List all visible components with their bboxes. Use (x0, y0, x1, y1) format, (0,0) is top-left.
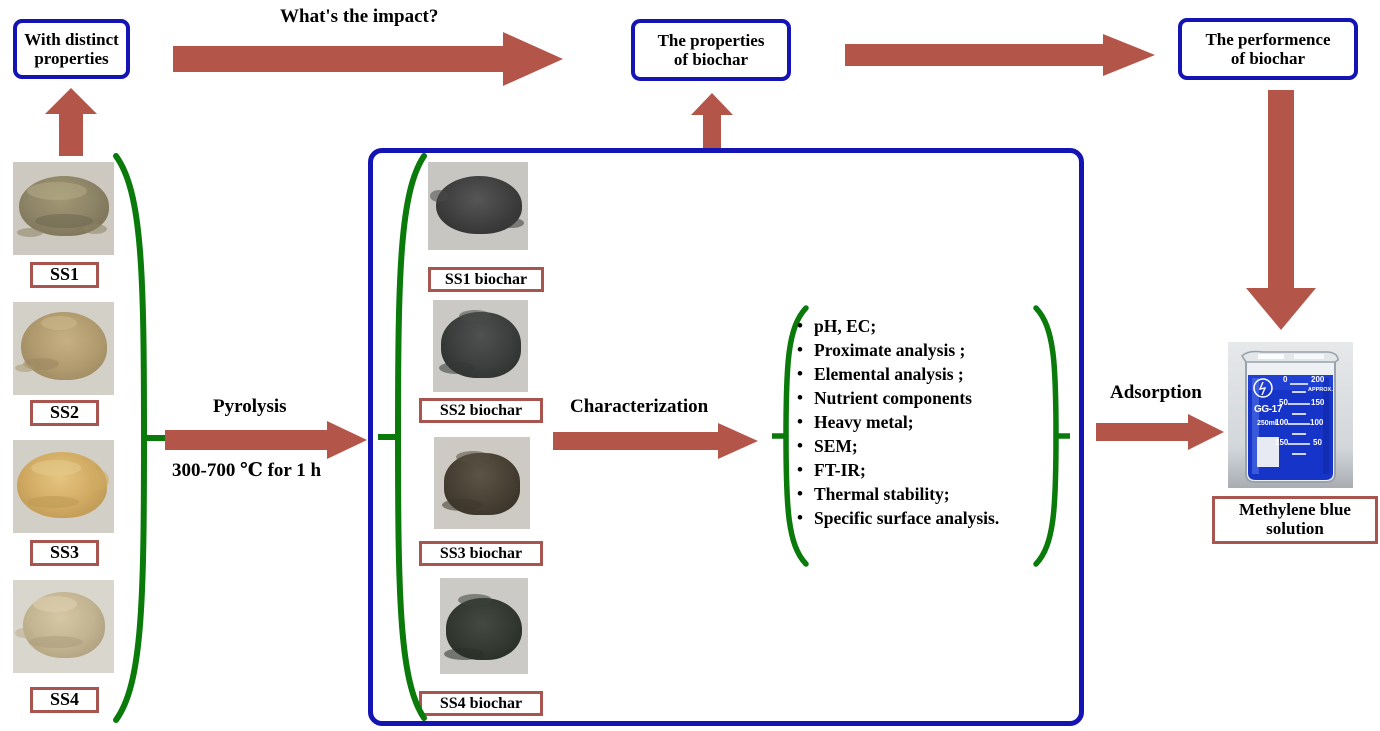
callout-properties-of-biochar: The properties of biochar (631, 19, 791, 81)
label-characterization: Characterization (570, 396, 708, 418)
biochar-label-text: SS1 biochar (445, 271, 527, 289)
sample-label-text: SS1 (50, 265, 79, 285)
biochar-label-ss4: SS4 biochar (419, 691, 543, 716)
beaker-scale-right-100: 100 (1310, 418, 1323, 427)
arrow-pyrolysis (165, 421, 367, 459)
beaker-volume: 250ml (1257, 420, 1277, 427)
sample-label-ss2: SS2 (30, 400, 99, 426)
sample-label-text: SS4 (50, 690, 79, 710)
list-item: Nutrient components (797, 390, 1047, 408)
beaker-photo: 0 200 APPROX. 50 150 100 100 150 50 GG-1… (1228, 342, 1353, 488)
sample-label-ss1: SS1 (30, 262, 99, 288)
sample-photo-ss4 (13, 580, 114, 673)
callout-line-2: of biochar (658, 50, 765, 69)
list-item: Elemental analysis ; (797, 366, 1047, 384)
sample-photo-ss1 (13, 162, 114, 255)
characterization-list: pH, EC; Proximate analysis ; Elemental a… (797, 318, 1047, 534)
callout-line-1: The performence (1205, 30, 1330, 49)
list-item: pH, EC; (797, 318, 1047, 336)
bracket-biochar-group (378, 152, 430, 722)
bracket-feedstock-group (110, 152, 172, 724)
callout-line-1: With distinct (24, 30, 119, 49)
beaker-brand: GG-17 (1254, 404, 1282, 415)
biochar-label-ss1: SS1 biochar (428, 267, 544, 292)
arrow-whats-the-impact (173, 32, 563, 86)
biochar-photo-ss4 (440, 578, 528, 674)
bracket-characterization-right (1028, 305, 1070, 567)
beaker-scale-right-50: 50 (1313, 438, 1322, 447)
callout-performance-of-biochar: The performence of biochar (1178, 18, 1358, 80)
beaker-scale-right-200: 200 (1311, 375, 1324, 384)
arrow-down-performance-to-beaker (1241, 90, 1321, 330)
beaker-approx-label: APPROX. (1308, 387, 1333, 393)
beaker-caption-line-1: Methylene blue (1239, 501, 1351, 520)
label-pyrolysis: Pyrolysis (213, 396, 287, 418)
label-whats-the-impact: What's the impact? (280, 6, 438, 28)
sample-label-ss3: SS3 (30, 540, 99, 566)
beaker-caption-line-2: solution (1266, 520, 1324, 539)
arrow-properties-to-performance (845, 34, 1155, 76)
beaker-scale-left-0: 0 (1283, 375, 1287, 384)
sample-label-text: SS2 (50, 403, 79, 423)
list-item: Thermal stability; (797, 486, 1047, 504)
beaker-scale-left-150: 150 (1275, 438, 1288, 447)
characterization-list-items: pH, EC; Proximate analysis ; Elemental a… (797, 318, 1047, 528)
list-item: FT-IR; (797, 462, 1047, 480)
callout-line-2: properties (24, 49, 119, 68)
callout-line-2: of biochar (1205, 49, 1330, 68)
biochar-photo-ss3 (434, 437, 530, 529)
biochar-photo-ss1 (428, 162, 528, 250)
beaker-scale-right-150: 150 (1311, 398, 1324, 407)
biochar-label-ss2: SS2 biochar (419, 398, 543, 423)
arrow-up-box-to-properties (691, 93, 733, 149)
sample-photo-ss2 (13, 302, 114, 395)
sample-photo-ss3 (13, 440, 114, 533)
label-adsorption: Adsorption (1110, 382, 1202, 404)
biochar-label-text: SS2 biochar (440, 402, 522, 420)
arrow-characterization (553, 423, 758, 459)
sample-label-ss4: SS4 (30, 687, 99, 713)
callout-with-distinct-properties: With distinct properties (13, 19, 130, 79)
sample-label-text: SS3 (50, 543, 79, 563)
biochar-photo-ss2 (433, 300, 528, 392)
arrow-adsorption (1096, 414, 1224, 450)
beaker-scale-left-100: 100 (1275, 418, 1288, 427)
biochar-label-ss3: SS3 biochar (419, 541, 543, 566)
list-item: Proximate analysis ; (797, 342, 1047, 360)
list-item: Heavy metal; (797, 414, 1047, 432)
biochar-label-text: SS4 biochar (440, 695, 522, 713)
callout-line-1: The properties (658, 31, 765, 50)
biochar-label-text: SS3 biochar (440, 545, 522, 563)
list-item: Specific surface analysis. (797, 510, 1047, 528)
beaker-caption: Methylene blue solution (1212, 496, 1378, 544)
label-pyrolysis-conditions: 300-700 ℃ for 1 h (172, 459, 321, 482)
arrow-up-samples-to-properties (45, 88, 97, 156)
list-item: SEM; (797, 438, 1047, 456)
